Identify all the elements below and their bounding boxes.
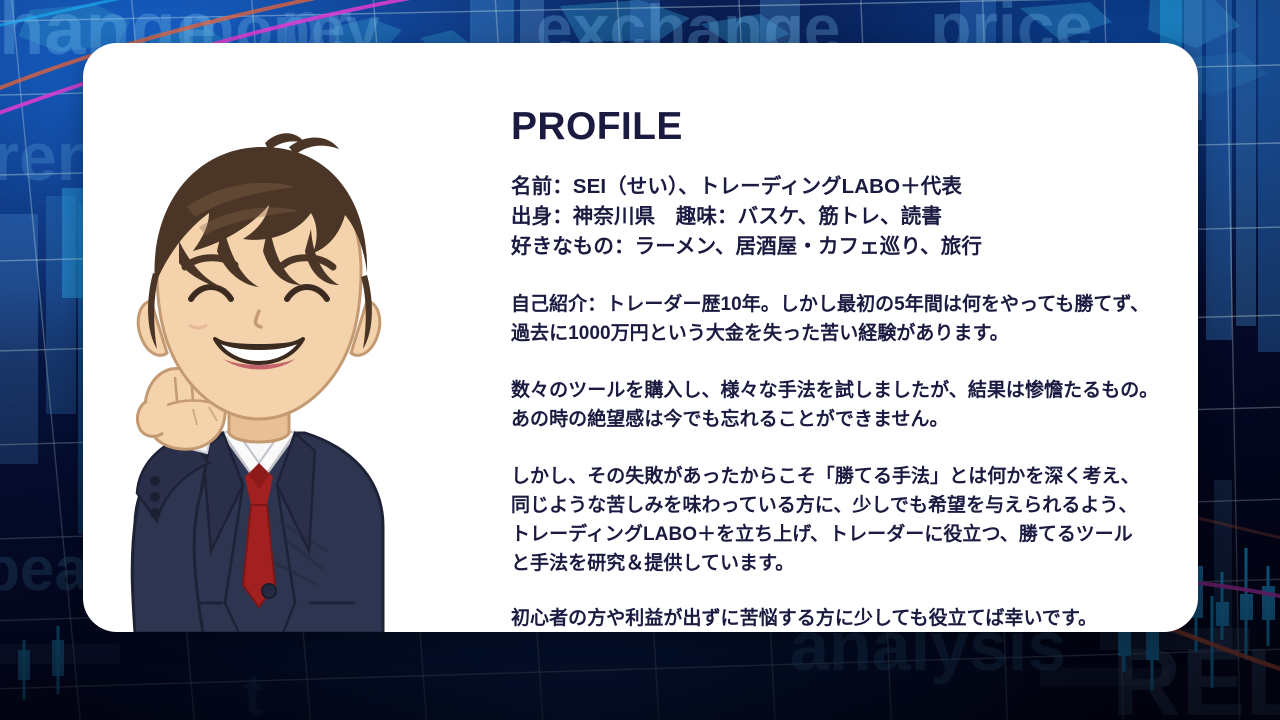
- meta-line-favorites: 好きなもの：ラーメン、居酒屋・カフェ巡り、旅行: [511, 232, 1178, 262]
- paragraph-intro-line-2: 過去に1000万円という大金を失った苦い経験があります。: [511, 319, 1178, 348]
- meta-line-name: 名前：SEI（せい）、トレーディングLABO＋代表: [511, 172, 1178, 202]
- paragraph-intro: 自己紹介：トレーダー歴10年。しかし最初の5年間は何をやっても勝てず、 過去に1…: [511, 290, 1178, 348]
- profile-text-column: PROFILE 名前：SEI（せい）、トレーディングLABO＋代表 出身：神奈川…: [428, 65, 1178, 624]
- paragraph-mission-line-2: 同じような苦しみを味わっている方に、少しでも希望を与えられるよう、: [511, 491, 1178, 520]
- paragraph-struggle: 数々のツールを購入し、様々な手法を試しましたが、結果は惨憺たるもの。 あの時の絶…: [511, 376, 1178, 434]
- paragraph-struggle-line-1: 数々のツールを購入し、様々な手法を試しましたが、結果は惨憺たるもの。: [511, 376, 1178, 405]
- paragraph-closing-line-1: 初心者の方や利益が出ずに苦悩する方に少しても役立てば幸いです。: [511, 604, 1178, 632]
- page-title: PROFILE: [511, 107, 1178, 146]
- profile-meta-block: 名前：SEI（せい）、トレーディングLABO＋代表 出身：神奈川県 趣味：バスケ…: [511, 172, 1178, 262]
- paragraph-closing: 初心者の方や利益が出ずに苦悩する方に少しても役立てば幸いです。: [511, 604, 1178, 632]
- paragraph-mission-line-4: と手法を研究＆提供しています。: [511, 549, 1178, 578]
- screenshot-root: money change exchange pr price rrenc ne …: [0, 0, 1280, 720]
- paragraph-mission: しかし、その失敗があったからこそ「勝てる手法」とは何かを深く考え、 同じような苦…: [511, 462, 1178, 578]
- paragraph-mission-line-1: しかし、その失敗があったからこそ「勝てる手法」とは何かを深く考え、: [511, 462, 1178, 491]
- paragraph-mission-line-3: トレーディングLABO＋を立ち上げ、トレーダーに役立つ、勝てるツール: [511, 520, 1178, 549]
- character-illustration: [83, 133, 433, 632]
- paragraph-intro-line-1: 自己紹介：トレーダー歴10年。しかし最初の5年間は何をやっても勝てず、: [511, 290, 1178, 319]
- profile-card: PROFILE 名前：SEI（せい）、トレーディングLABO＋代表 出身：神奈川…: [83, 43, 1198, 632]
- paragraph-struggle-line-2: あの時の絶望感は今でも忘れることができません。: [511, 405, 1178, 434]
- meta-line-origin: 出身：神奈川県 趣味：バスケ、筋トレ、読書: [511, 202, 1178, 232]
